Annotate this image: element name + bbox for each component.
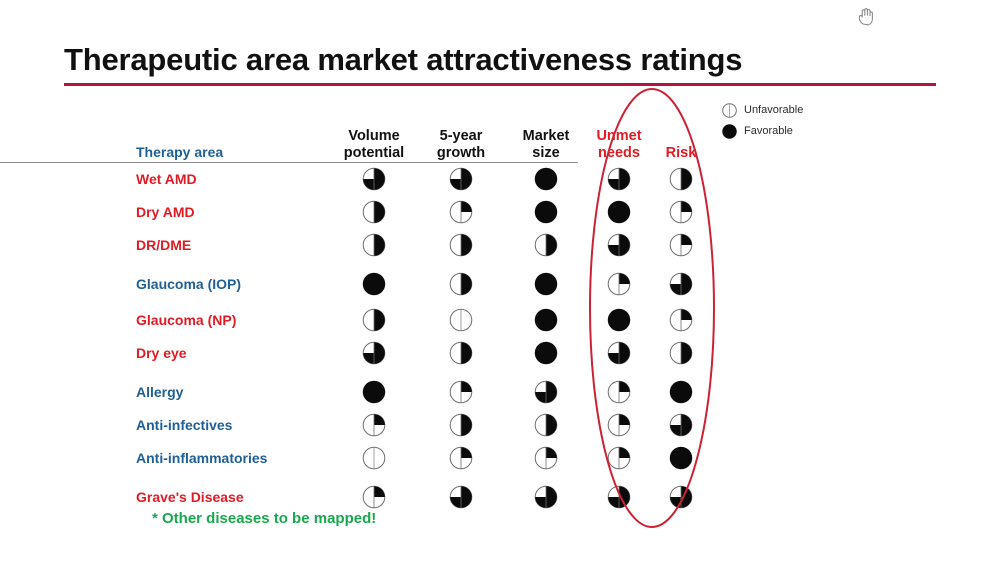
column-header-line1: Volume <box>344 128 404 145</box>
rating-ball <box>608 341 631 364</box>
rating-ball <box>363 413 386 436</box>
table-header-row: Therapy area Volumepotential5-yeargrowth… <box>136 110 716 162</box>
rating-ball <box>450 233 473 256</box>
row-label-dry-amd: Dry AMD <box>136 204 195 220</box>
legend-item-favorable: Favorable <box>722 121 902 142</box>
rating-ball <box>608 446 631 469</box>
column-header-volume-potential: Volumepotential <box>344 128 404 162</box>
rating-ball <box>670 308 693 331</box>
rating-ball <box>363 167 386 190</box>
column-header-5-year-growth: 5-yeargrowth <box>437 128 485 162</box>
unfavorable-ball-icon <box>722 103 737 118</box>
header-divider <box>0 162 578 163</box>
column-header-market-size: Marketsize <box>523 128 570 162</box>
column-header-line1: 5-year <box>437 128 485 145</box>
rating-ball <box>670 341 693 364</box>
rating-ball <box>535 167 558 190</box>
column-header-line2: size <box>523 145 570 162</box>
rating-ball <box>535 272 558 295</box>
row-label-allergy: Allergy <box>136 384 183 400</box>
rating-ball <box>535 380 558 403</box>
rating-ball <box>608 167 631 190</box>
title-block: Therapeutic area market attractiveness r… <box>64 44 936 86</box>
rating-ball <box>608 233 631 256</box>
legend-item-label: Unfavorable <box>744 105 803 116</box>
rating-ball <box>535 413 558 436</box>
table-row: Wet AMD <box>136 162 716 195</box>
row-label-dry-eye: Dry eye <box>136 345 187 361</box>
table-row: Grave's Disease <box>136 480 716 513</box>
favorable-ball-icon <box>722 124 737 139</box>
rating-ball <box>608 380 631 403</box>
rating-ball <box>670 272 693 295</box>
rating-ball <box>670 413 693 436</box>
column-header-line1: Unmet <box>596 128 641 145</box>
rating-ball <box>450 485 473 508</box>
rating-ball <box>670 446 693 469</box>
row-label-anti-infectives: Anti-infectives <box>136 417 232 433</box>
rating-ball <box>363 380 386 403</box>
row-label-dr-dme: DR/DME <box>136 237 191 253</box>
rating-ball <box>535 308 558 331</box>
column-header-risk: Risk <box>666 145 697 162</box>
rating-ball <box>608 413 631 436</box>
hand-pointer-cursor-icon <box>856 5 876 27</box>
rating-ball <box>670 485 693 508</box>
row-label-glaucoma-iop-: Glaucoma (IOP) <box>136 276 241 292</box>
table-row: DR/DME <box>136 228 716 261</box>
rating-ball <box>450 200 473 223</box>
rating-ball <box>450 272 473 295</box>
page-title: Therapeutic area market attractiveness r… <box>64 44 936 77</box>
column-header-therapy-area: Therapy area <box>136 144 223 160</box>
table-body: Wet AMDDry AMDDR/DMEGlaucoma (IOP)Glauco… <box>136 162 716 513</box>
ratings-matrix: Therapy area Volumepotential5-yeargrowth… <box>136 110 716 513</box>
column-header-line2: growth <box>437 145 485 162</box>
rating-ball <box>450 446 473 469</box>
rating-ball <box>363 308 386 331</box>
rating-ball <box>363 341 386 364</box>
rating-ball <box>670 233 693 256</box>
rating-ball <box>450 380 473 403</box>
legend: UnfavorableFavorable <box>722 100 902 142</box>
column-header-unmet-needs: Unmetneeds <box>596 128 641 162</box>
rating-ball <box>670 167 693 190</box>
rating-ball <box>450 308 473 331</box>
table-row: Anti-infectives <box>136 408 716 441</box>
rating-ball <box>363 272 386 295</box>
column-header-line1: Market <box>523 128 570 145</box>
rating-ball <box>608 200 631 223</box>
row-label-anti-inflammatories: Anti-inflammatories <box>136 450 267 466</box>
rating-ball <box>535 200 558 223</box>
rating-ball <box>363 446 386 469</box>
slide-canvas: Therapeutic area market attractiveness r… <box>0 0 1000 561</box>
legend-item-unfavorable: Unfavorable <box>722 100 902 121</box>
table-row: Anti-inflammatories <box>136 441 716 474</box>
table-row: Glaucoma (IOP) <box>136 267 716 300</box>
rating-ball <box>608 485 631 508</box>
rating-ball <box>535 341 558 364</box>
column-header-line2: needs <box>596 145 641 162</box>
rating-ball <box>450 341 473 364</box>
column-header-line2: Risk <box>666 145 697 162</box>
rating-ball <box>450 413 473 436</box>
rating-ball <box>363 485 386 508</box>
table-row: Dry AMD <box>136 195 716 228</box>
row-label-grave-s-disease: Grave's Disease <box>136 489 244 505</box>
table-row: Allergy <box>136 375 716 408</box>
rating-ball <box>363 200 386 223</box>
rating-ball <box>670 380 693 403</box>
rating-ball <box>608 308 631 331</box>
row-label-wet-amd: Wet AMD <box>136 171 197 187</box>
table-row: Dry eye <box>136 336 716 369</box>
rating-ball <box>535 485 558 508</box>
legend-item-label: Favorable <box>744 126 793 137</box>
footnote-text: * Other diseases to be mapped! <box>152 510 376 527</box>
row-label-glaucoma-np-: Glaucoma (NP) <box>136 312 236 328</box>
rating-ball <box>535 446 558 469</box>
table-row: Glaucoma (NP) <box>136 303 716 336</box>
title-underline-rule <box>64 83 936 86</box>
rating-ball <box>535 233 558 256</box>
rating-ball <box>608 272 631 295</box>
column-header-line2: potential <box>344 145 404 162</box>
rating-ball <box>670 200 693 223</box>
rating-ball <box>450 167 473 190</box>
rating-ball <box>363 233 386 256</box>
